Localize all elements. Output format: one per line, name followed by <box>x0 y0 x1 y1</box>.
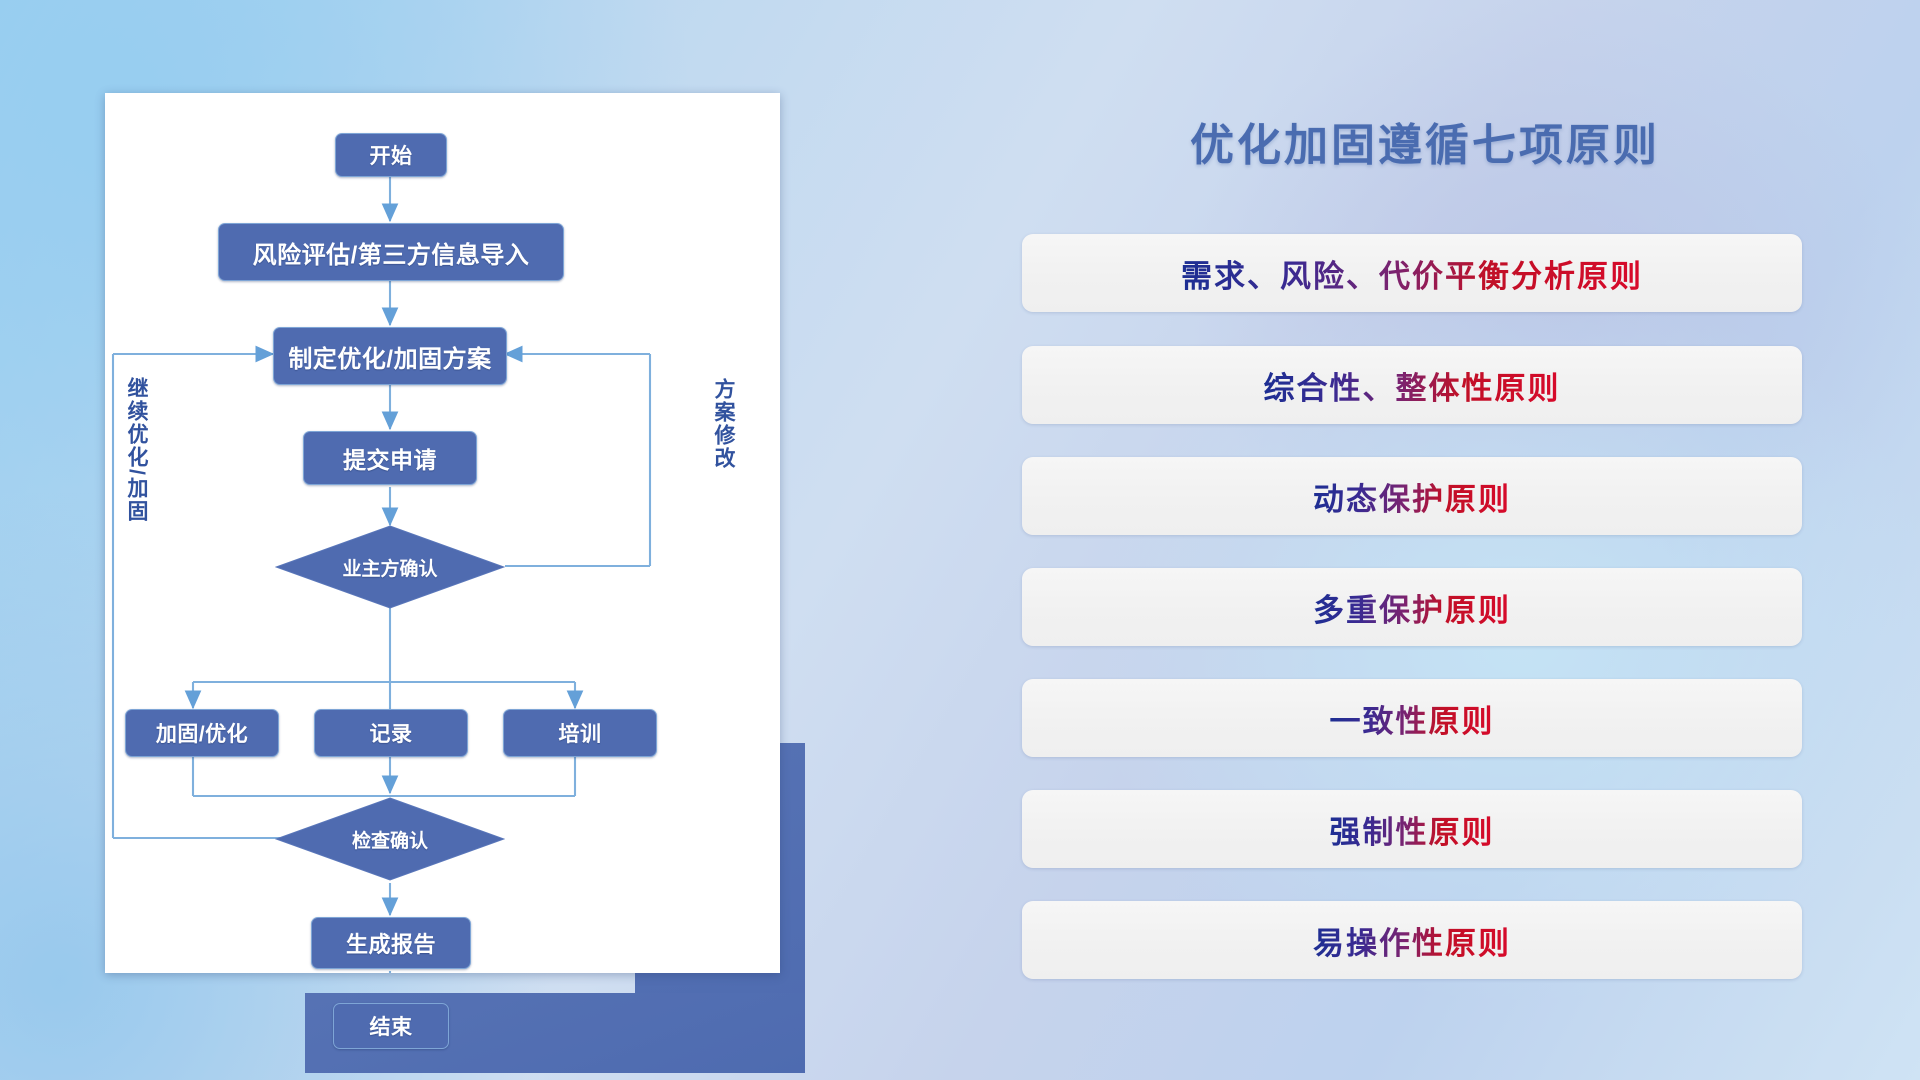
flow-node-label: 结束 <box>370 1011 413 1041</box>
principles-panel: 优化加固遵循七项原则 需求、风险、代价平衡分析原则 综合性、整体性原则 动态保护… <box>1020 95 1830 995</box>
flow-node-label: 记录 <box>370 718 413 748</box>
flow-node-label: 风险评估/第三方信息导入 <box>253 235 530 270</box>
flow-decision-owner-confirm[interactable]: 业主方确认 <box>275 525 505 609</box>
flow-node-generate-report[interactable]: 生成报告 <box>311 917 471 969</box>
flow-edge-label-continue-optimize: 继续优化/加固 <box>125 377 147 523</box>
principle-label: 综合性、整体性原则 <box>1264 363 1561 408</box>
flow-node-label: 培训 <box>559 718 602 748</box>
flow-node-training[interactable]: 培训 <box>503 709 657 757</box>
panel-title: 优化加固遵循七项原则 <box>1020 109 1830 173</box>
flow-node-end[interactable]: 结束 <box>333 1003 449 1049</box>
flow-node-label: 制定优化/加固方案 <box>288 339 491 374</box>
principle-label: 一致性原则 <box>1330 696 1495 741</box>
principle-item[interactable]: 一致性原则 <box>1022 679 1802 757</box>
principle-label: 多重保护原则 <box>1313 585 1511 630</box>
flowchart-card: 开始 风险评估/第三方信息导入 制定优化/加固方案 提交申请 业主方确认 加固/… <box>105 93 780 973</box>
principle-item[interactable]: 需求、风险、代价平衡分析原则 <box>1022 234 1802 312</box>
flow-node-record[interactable]: 记录 <box>314 709 468 757</box>
flow-node-start[interactable]: 开始 <box>335 133 447 177</box>
flow-node-risk-assessment[interactable]: 风险评估/第三方信息导入 <box>218 223 564 281</box>
slide-canvas: 开始 风险评估/第三方信息导入 制定优化/加固方案 提交申请 业主方确认 加固/… <box>0 0 1920 1080</box>
flow-decision-label: 业主方确认 <box>342 554 437 581</box>
flowchart-panel: 开始 风险评估/第三方信息导入 制定优化/加固方案 提交申请 业主方确认 加固/… <box>105 93 785 973</box>
principle-label: 强制性原则 <box>1330 807 1495 852</box>
principle-label: 需求、风险、代价平衡分析原则 <box>1181 251 1643 296</box>
principle-item[interactable]: 多重保护原则 <box>1022 568 1802 646</box>
principle-label: 动态保护原则 <box>1313 474 1511 519</box>
flow-node-make-plan[interactable]: 制定优化/加固方案 <box>273 327 507 385</box>
flow-edge-label-plan-revision: 方案修改 <box>712 378 734 470</box>
flow-decision-inspect-confirm[interactable]: 检查确认 <box>275 797 505 881</box>
flow-node-label: 提交申请 <box>343 441 437 475</box>
flow-node-label: 加固/优化 <box>156 718 248 748</box>
principle-item[interactable]: 动态保护原则 <box>1022 457 1802 535</box>
principle-item[interactable]: 综合性、整体性原则 <box>1022 346 1802 424</box>
principle-label: 易操作性原则 <box>1313 918 1511 963</box>
flow-node-reinforce-optimize[interactable]: 加固/优化 <box>125 709 279 757</box>
flow-node-submit-application[interactable]: 提交申请 <box>303 431 477 485</box>
principle-item[interactable]: 易操作性原则 <box>1022 901 1802 979</box>
flow-node-label: 生成报告 <box>346 927 436 959</box>
principle-item[interactable]: 强制性原则 <box>1022 790 1802 868</box>
flow-node-label: 开始 <box>370 140 413 170</box>
flow-decision-label: 检查确认 <box>352 826 428 853</box>
